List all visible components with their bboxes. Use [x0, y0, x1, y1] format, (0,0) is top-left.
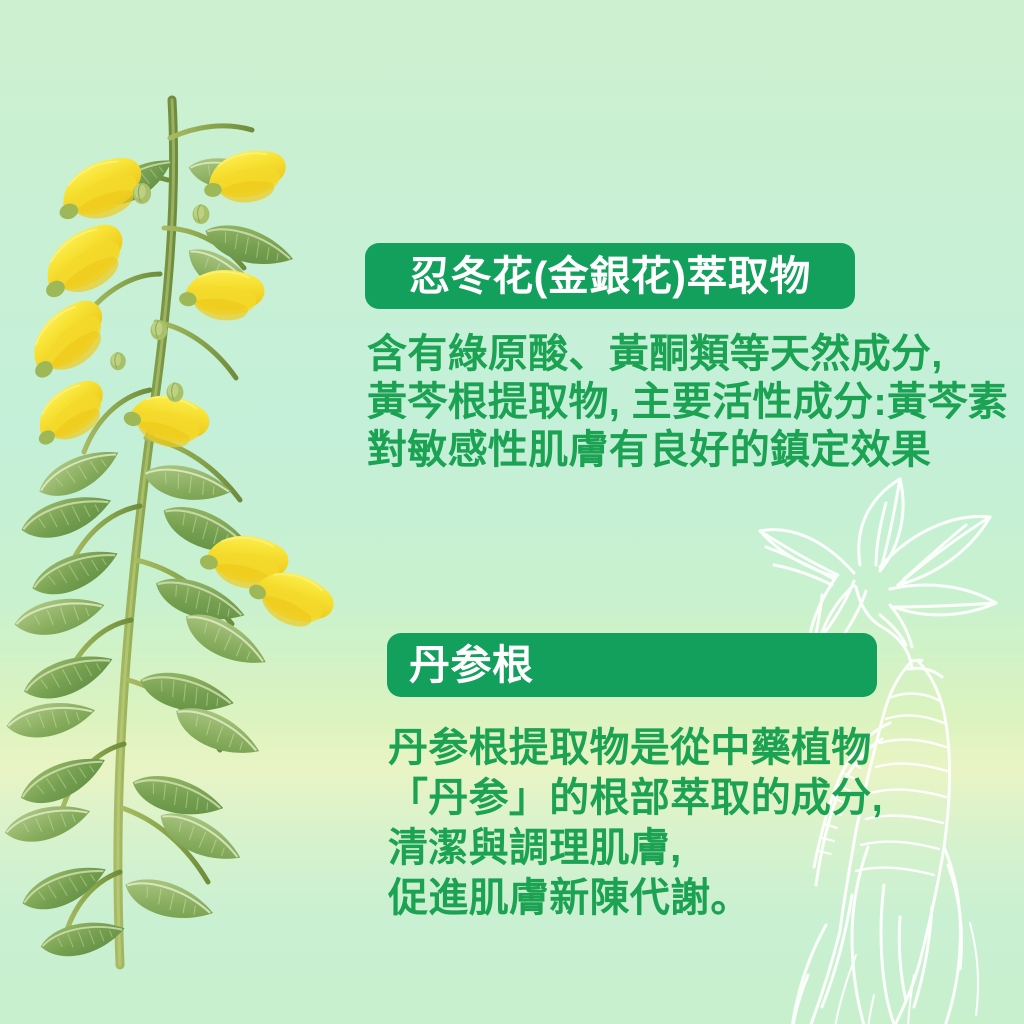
- section-body-honeysuckle: 含有綠原酸、黃酮類等天然成分, 黃芩根提取物, 主要活性成分:黃芩素 對敏感性肌…: [367, 330, 1008, 474]
- section-body-danshen: 丹参根提取物是從中藥植物 「丹参」的根部萃取的成分, 清潔與調理肌膚, 促進肌膚…: [388, 723, 883, 923]
- section-banner-honeysuckle: 忍冬花(金銀花)萃取物: [365, 243, 855, 309]
- banner-label-honeysuckle: 忍冬花(金銀花)萃取物: [409, 256, 811, 297]
- product-ingredient-poster: 忍冬花(金銀花)萃取物 含有綠原酸、黃酮類等天然成分, 黃芩根提取物, 主要活性…: [0, 0, 1024, 1024]
- honeysuckle-plant-illustration: [0, 60, 380, 1020]
- section-banner-danshen: 丹参根: [387, 633, 877, 697]
- banner-label-danshen: 丹参根: [409, 645, 534, 686]
